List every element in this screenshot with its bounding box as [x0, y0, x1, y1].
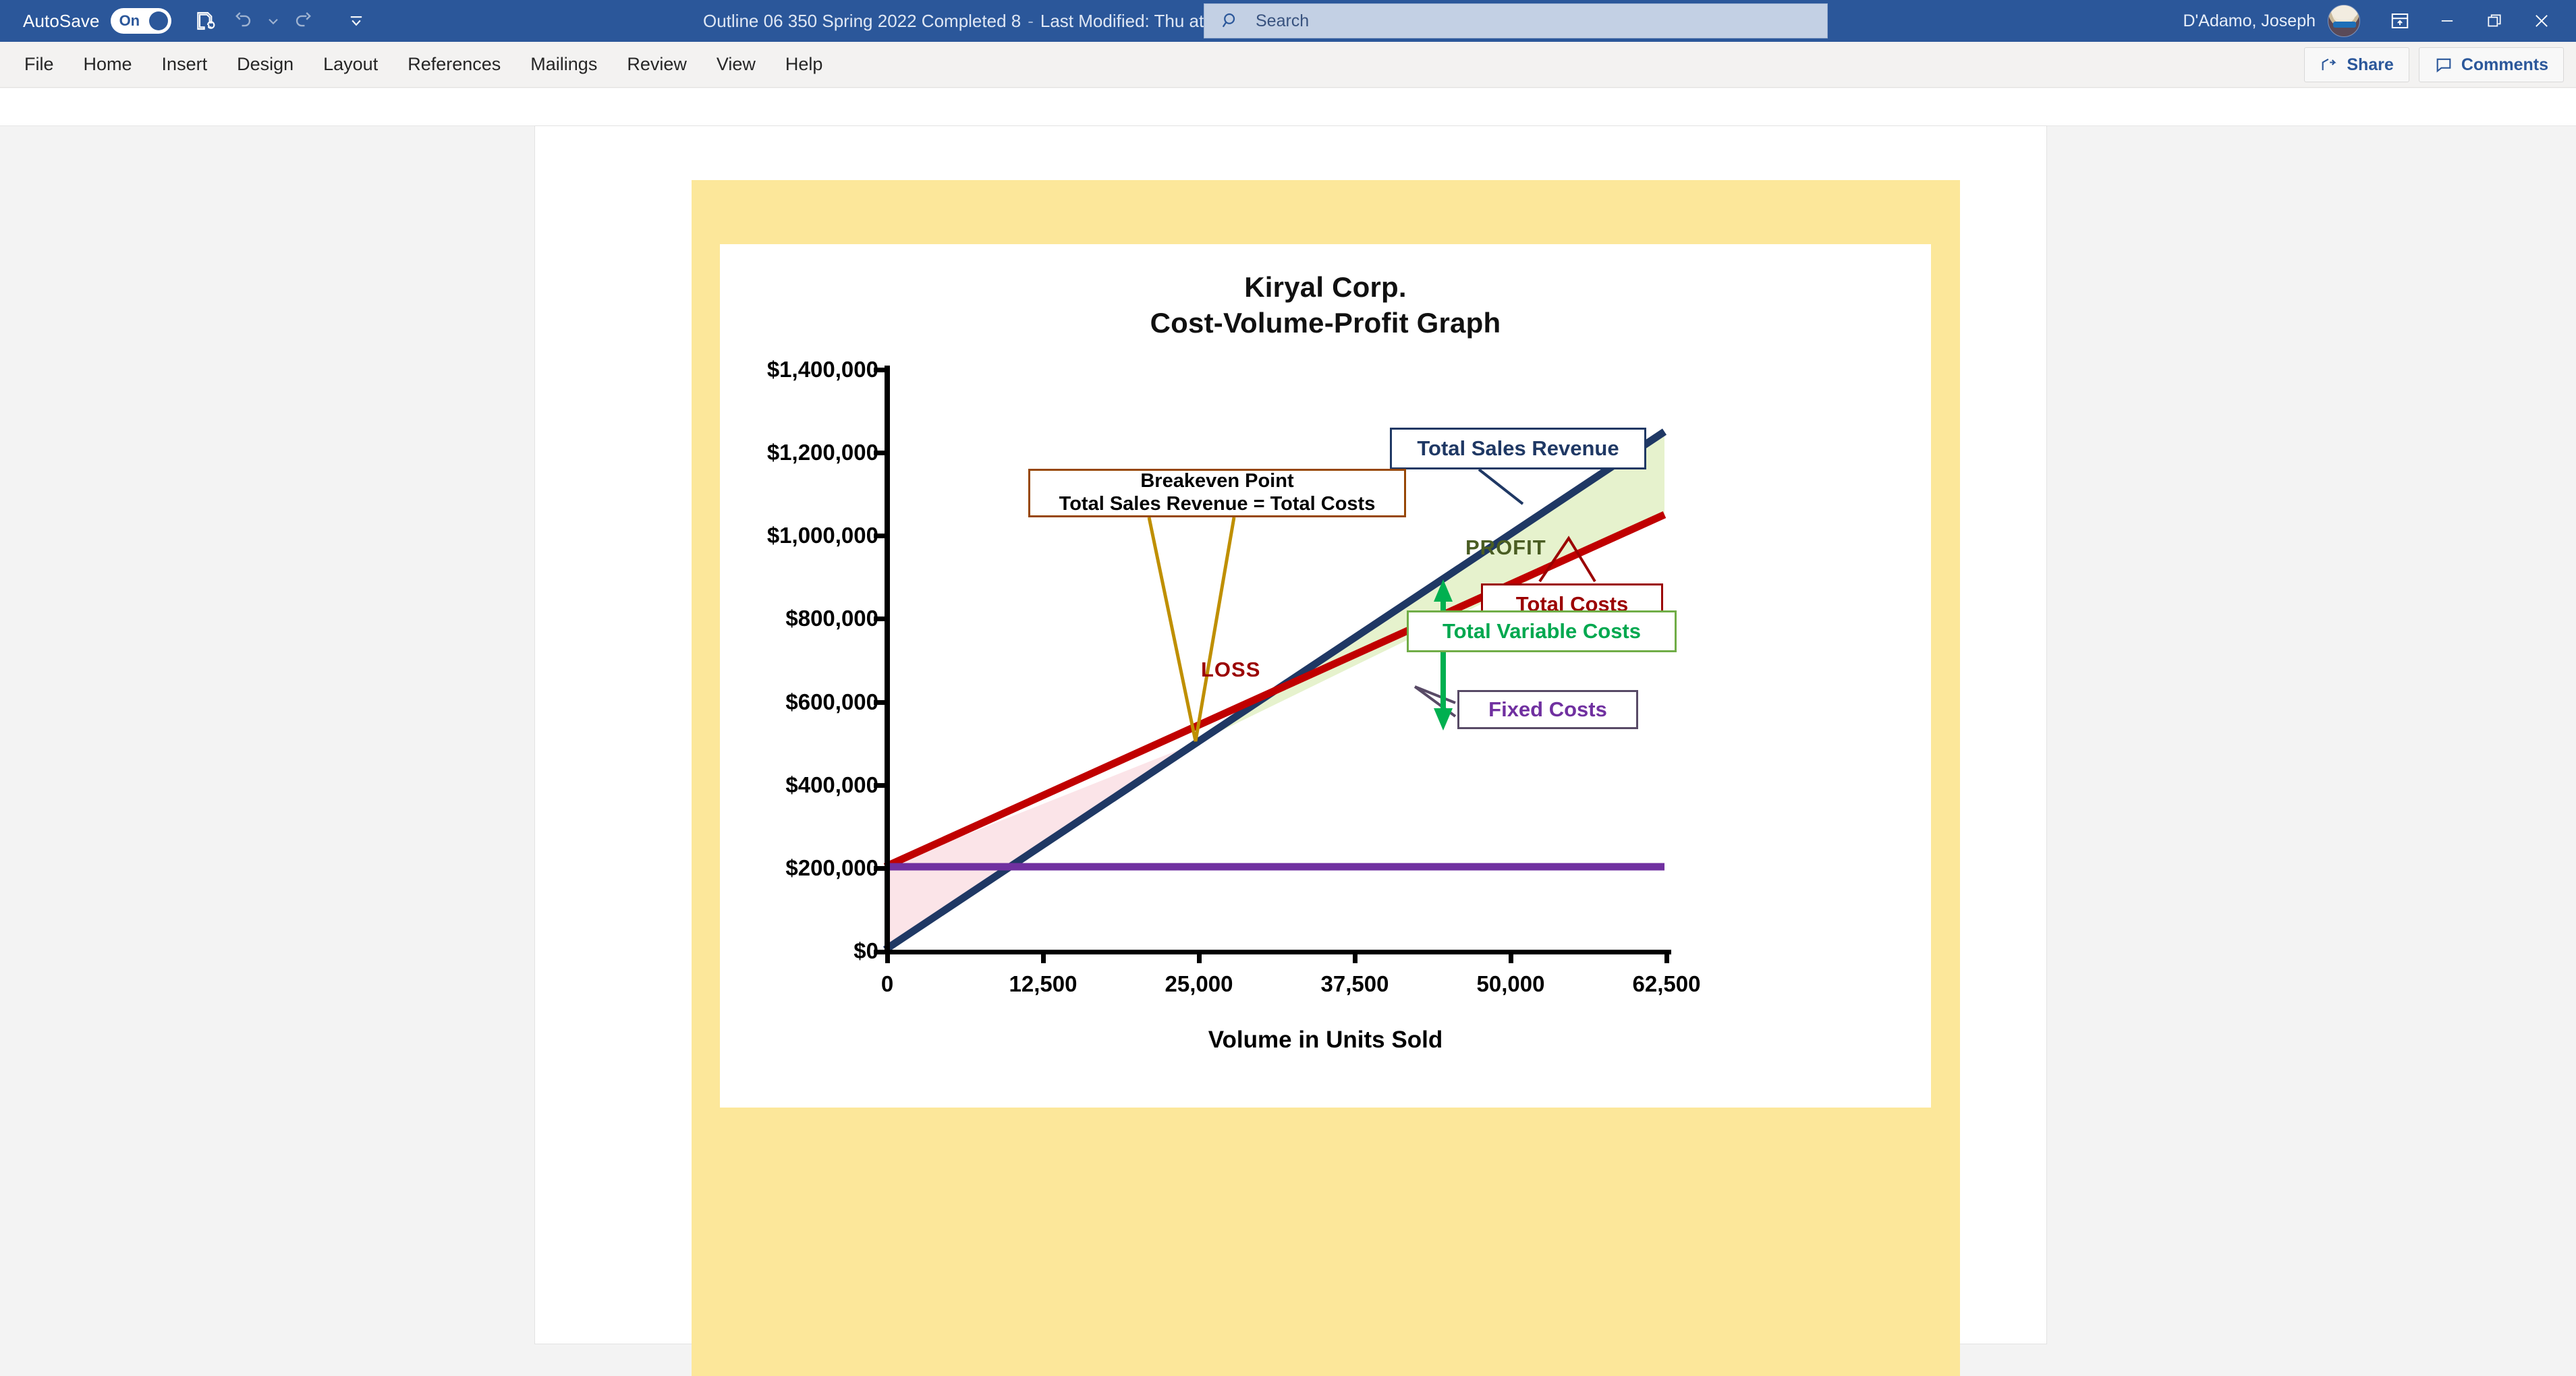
comments-label: Comments — [2461, 55, 2548, 75]
total-variable-costs-label: Total Variable Costs — [1443, 619, 1641, 643]
close-icon[interactable] — [2518, 0, 2565, 42]
tab-mailings[interactable]: Mailings — [515, 42, 612, 88]
autosave-toggle[interactable]: On — [111, 8, 171, 34]
total-sales-revenue-label: Total Sales Revenue — [1417, 436, 1619, 461]
tab-home[interactable]: Home — [69, 42, 147, 88]
x-tick — [1664, 950, 1669, 963]
tab-design[interactable]: Design — [222, 42, 308, 88]
total-variable-costs-callout[interactable]: Total Variable Costs — [1407, 610, 1677, 652]
y-tick-label: $200,000 — [595, 855, 878, 881]
x-tick — [1197, 950, 1202, 963]
x-axis-title: Volume in Units Sold — [720, 1027, 1931, 1054]
ribbon-tab-bar: File Home Insert Design Layout Reference… — [0, 42, 2576, 88]
account-name[interactable]: D'Adamo, Joseph — [2183, 11, 2316, 31]
titlebar-right-controls: D'Adamo, Joseph — [2183, 0, 2576, 42]
x-tick-label: 50,000 — [1477, 971, 1545, 997]
undo-icon[interactable] — [224, 2, 262, 40]
x-tick-label: 62,500 — [1633, 971, 1701, 997]
plot-area: $1,400,000 $1,200,000 $1,000,000 $800,00… — [720, 244, 1931, 1108]
tab-layout[interactable]: Layout — [308, 42, 393, 88]
title-bar: AutoSave On — [0, 0, 2576, 42]
fixed-costs-callout[interactable]: Fixed Costs — [1457, 690, 1638, 729]
right-gutter — [2046, 126, 2576, 1344]
search-input[interactable]: Search — [1204, 3, 1828, 38]
search-placeholder: Search — [1256, 11, 1309, 31]
avatar-hat — [2331, 5, 2358, 20]
autosave-toggle-knob — [149, 11, 168, 30]
total-sales-revenue-leader — [1479, 469, 1523, 504]
breakeven-point-title: Breakeven Point — [1140, 470, 1293, 493]
share-icon — [2320, 55, 2339, 74]
share-label: Share — [2347, 55, 2393, 75]
comments-button[interactable]: Comments — [2419, 47, 2564, 82]
fixed-costs-label: Fixed Costs — [1488, 697, 1607, 722]
chart-plot-card: Kiryal Corp. Cost-Volume-Profit Graph — [720, 244, 1931, 1108]
total-sales-revenue-callout[interactable]: Total Sales Revenue — [1390, 428, 1646, 469]
y-tick-label: $1,200,000 — [595, 440, 878, 465]
ribbon-right-actions: Share Comments — [2304, 47, 2564, 82]
y-tick-label: $600,000 — [595, 689, 878, 715]
avatar-glasses — [2333, 22, 2356, 28]
ribbon-display-options-icon[interactable] — [2376, 0, 2424, 42]
y-tick-label: $800,000 — [595, 606, 878, 631]
save-sync-icon[interactable] — [186, 2, 224, 40]
document-canvas: Kiryal Corp. Cost-Volume-Profit Graph — [0, 126, 2576, 1344]
tab-review[interactable]: Review — [612, 42, 702, 88]
x-tick-label: 0 — [881, 971, 893, 997]
document-title: Outline 06 350 Spring 2022 Completed 8 — [703, 11, 1021, 32]
x-tick-label: 12,500 — [1009, 971, 1077, 997]
left-gutter — [0, 126, 535, 1344]
title-separator: - — [1028, 11, 1034, 32]
y-tick-label: $400,000 — [595, 772, 878, 798]
tab-insert[interactable]: Insert — [147, 42, 223, 88]
breakeven-point-callout[interactable]: Breakeven Point Total Sales Revenue = To… — [1028, 469, 1406, 517]
loss-region-label: LOSS — [1201, 658, 1260, 682]
profit-region-label: PROFIT — [1465, 536, 1546, 560]
minimize-icon[interactable] — [2424, 0, 2471, 42]
y-tick-label: $1,400,000 — [595, 357, 878, 382]
cvp-figure[interactable]: Kiryal Corp. Cost-Volume-Profit Graph — [692, 180, 1960, 1376]
autosave-label: AutoSave — [23, 11, 100, 32]
x-axis — [885, 950, 1671, 954]
x-tick-label: 25,000 — [1165, 971, 1233, 997]
search-icon — [1221, 11, 1241, 31]
x-tick — [1353, 950, 1357, 963]
chevron-down-icon[interactable] — [262, 2, 285, 40]
comment-icon — [2434, 55, 2453, 74]
y-tick-label: $1,000,000 — [595, 523, 878, 548]
restore-down-icon[interactable] — [2471, 0, 2518, 42]
tab-file[interactable]: File — [9, 42, 69, 88]
x-tick — [1041, 950, 1046, 963]
quick-access-toolbar — [186, 2, 375, 40]
autosave-state-label: On — [119, 12, 140, 30]
avatar[interactable] — [2328, 5, 2360, 37]
x-tick-label: 37,500 — [1321, 971, 1389, 997]
tab-view[interactable]: View — [702, 42, 771, 88]
share-button[interactable]: Share — [2304, 47, 2409, 82]
breakeven-leader — [1149, 517, 1234, 741]
y-tick-label: $0 — [595, 938, 878, 964]
document-title-area[interactable]: Outline 06 350 Spring 2022 Completed 8 -… — [703, 0, 1290, 42]
redo-icon[interactable] — [285, 2, 323, 40]
document-page[interactable]: Kiryal Corp. Cost-Volume-Profit Graph — [535, 126, 2046, 1344]
tab-help[interactable]: Help — [771, 42, 838, 88]
x-tick — [1509, 950, 1513, 963]
customize-quick-access-toolbar-icon[interactable] — [337, 2, 375, 40]
ruler-row: └ 1234567 — [0, 88, 2576, 126]
tab-references[interactable]: References — [393, 42, 515, 88]
breakeven-point-equation: Total Sales Revenue = Total Costs — [1059, 493, 1376, 516]
x-tick — [885, 950, 890, 963]
